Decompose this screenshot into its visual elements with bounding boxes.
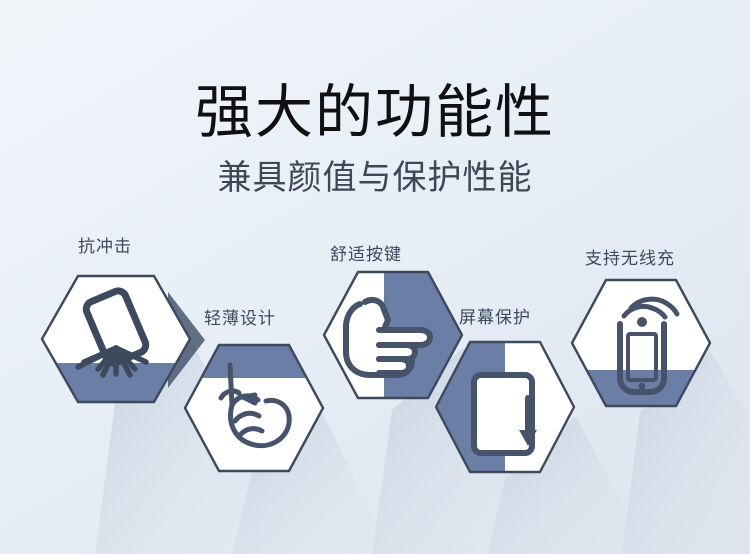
feature-label-comfortable-buttons: 舒适按键 <box>330 245 402 265</box>
hexagon-slim-design[interactable] <box>183 343 325 475</box>
home-button-icon <box>639 383 646 390</box>
screen-shield-icon <box>474 375 537 453</box>
hexagon-wireless-charging[interactable] <box>570 278 712 410</box>
hexagon-screen-protection[interactable] <box>434 340 576 476</box>
feature-label-shock-resistant: 抗冲击 <box>78 237 132 257</box>
poster-canvas: 强大的功能性 兼具颜值与保护性能 <box>0 0 750 554</box>
wireless-dot-icon <box>637 317 647 327</box>
hexagon-shock-resistant[interactable] <box>40 274 192 406</box>
feature-label-wireless-charging: 支持无线充 <box>585 249 675 269</box>
feature-label-screen-protection: 屏幕保护 <box>459 308 531 328</box>
feature-hex-layer: 抗冲击 <box>0 0 750 554</box>
feature-label-slim-design: 轻薄设计 <box>204 309 276 329</box>
